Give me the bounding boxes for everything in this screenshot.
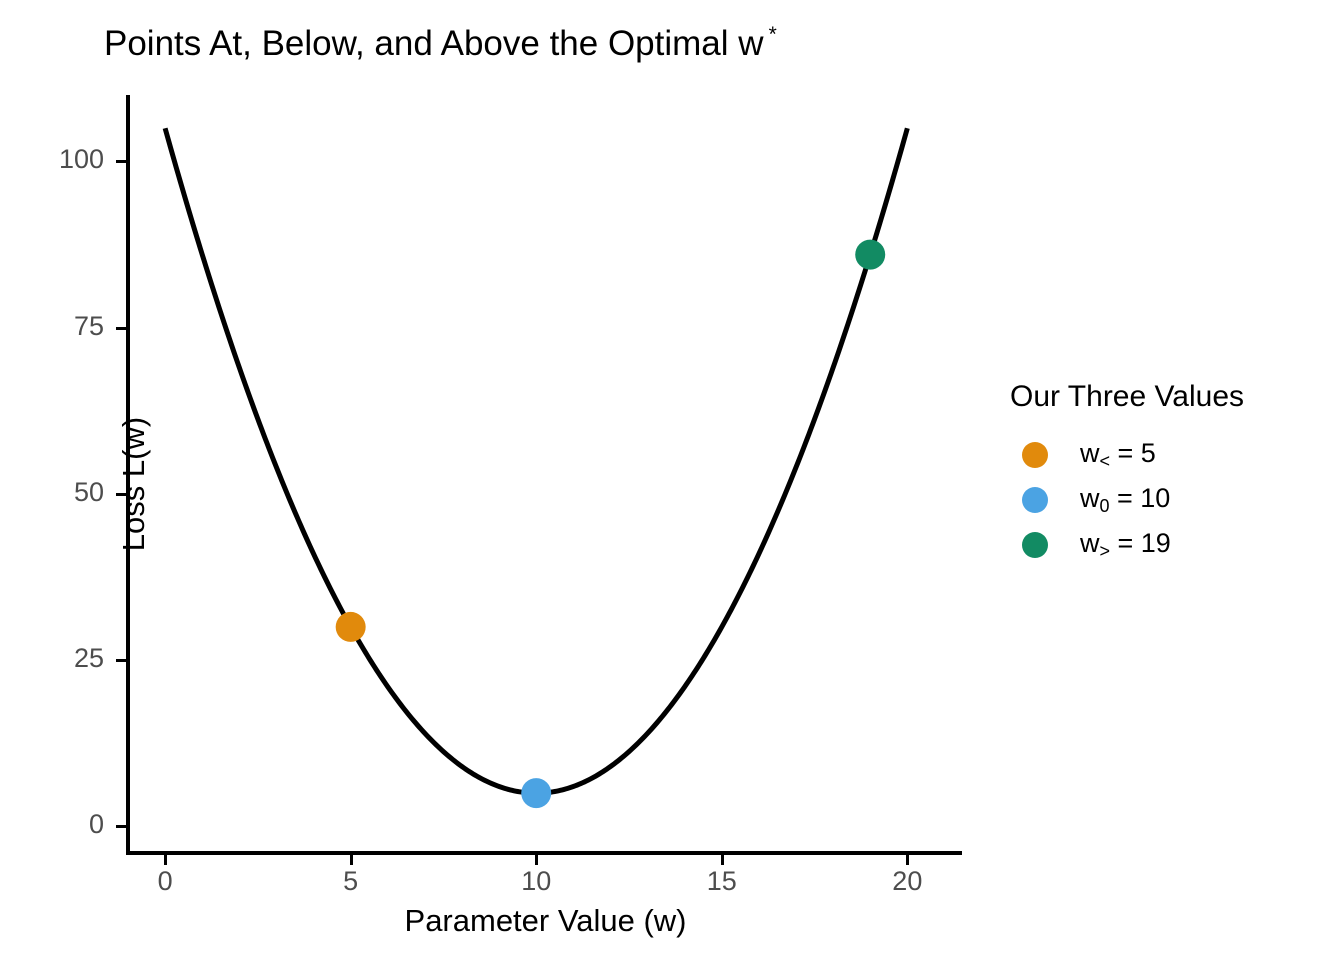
legend-item-label: w< = 5 xyxy=(1080,438,1156,472)
legend-items: w< = 5w0 = 10w> = 19 xyxy=(1010,432,1330,567)
legend-item-label: w0 = 10 xyxy=(1080,483,1170,517)
data-point-1[interactable] xyxy=(521,778,551,808)
legend-item[interactable]: w< = 5 xyxy=(1010,432,1330,477)
loss-curve-path xyxy=(165,128,907,793)
loss-curve xyxy=(165,128,907,793)
page-title: Points At, Below, and Above the Optimal … xyxy=(104,14,777,65)
chart-title-superscript: * xyxy=(769,23,777,46)
y-tick-label: 50 xyxy=(74,477,104,508)
y-tick-label: 25 xyxy=(74,643,104,674)
y-tick-label: 75 xyxy=(74,311,104,342)
data-point-2[interactable] xyxy=(855,240,885,270)
x-tick-label: 15 xyxy=(682,866,762,897)
x-tick-mark xyxy=(350,855,353,865)
legend-key-dot-icon xyxy=(1022,487,1048,513)
x-tick-label: 20 xyxy=(867,866,947,897)
x-tick-mark xyxy=(906,855,909,865)
x-tick-mark xyxy=(164,855,167,865)
legend-key-dot-icon xyxy=(1022,532,1048,558)
legend-key-dot-icon xyxy=(1022,442,1048,468)
legend: Our Three Values w< = 5w0 = 10w> = 19 xyxy=(1010,380,1330,567)
x-axis-title: Parameter Value (w) xyxy=(128,903,963,939)
x-tick-mark xyxy=(535,855,538,865)
y-axis-title: Loss L(w) xyxy=(116,104,152,864)
x-tick-label: 10 xyxy=(496,866,576,897)
data-point-0[interactable] xyxy=(336,612,366,642)
plot-panel xyxy=(128,95,963,853)
x-tick-label: 0 xyxy=(125,866,205,897)
chart-root: Points At, Below, and Above the Optimal … xyxy=(0,0,1344,960)
legend-item[interactable]: w0 = 10 xyxy=(1010,477,1330,522)
chart-title-text: Points At, Below, and Above the Optimal … xyxy=(104,24,764,63)
legend-item-label: w> = 19 xyxy=(1080,528,1171,562)
x-tick-label: 5 xyxy=(311,866,391,897)
plot-svg xyxy=(128,95,963,853)
legend-title: Our Three Values xyxy=(1010,380,1330,414)
y-tick-label: 100 xyxy=(59,144,104,175)
x-axis-line xyxy=(126,851,962,855)
y-tick-label: 0 xyxy=(89,809,104,840)
x-tick-mark xyxy=(721,855,724,865)
legend-item[interactable]: w> = 19 xyxy=(1010,522,1330,567)
